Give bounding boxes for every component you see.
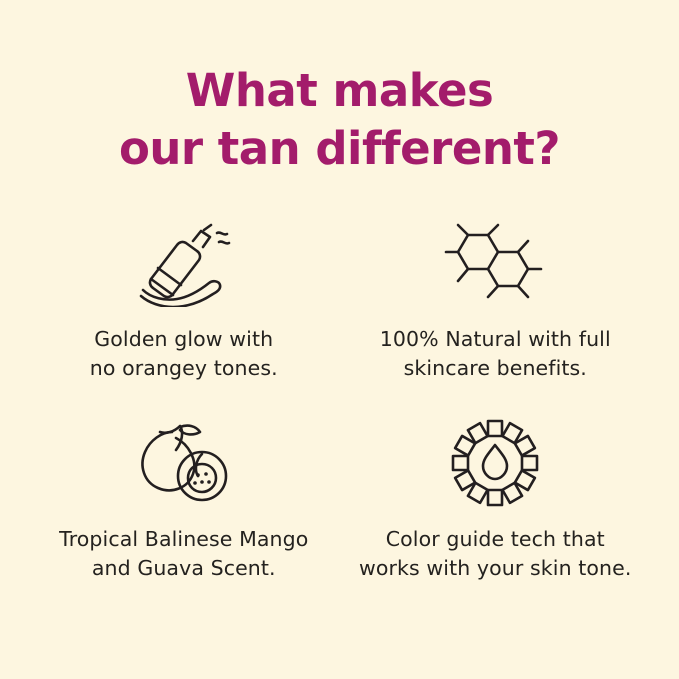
feature-caption: Golden glow with no orangey tones.	[90, 325, 278, 383]
feature-item-natural-skincare: 100% Natural with full skincare benefits…	[340, 215, 652, 415]
feature-caption: Tropical Balinese Mango and Guava Scent.	[59, 525, 308, 583]
feature-caption-line-1: Golden glow with	[90, 325, 278, 354]
feature-caption-line-2: and Guava Scent.	[59, 554, 308, 583]
feature-grid: Golden glow with no orangey tones.	[28, 215, 651, 615]
feature-item-golden-glow: Golden glow with no orangey tones.	[28, 215, 340, 415]
feature-caption: 100% Natural with full skincare benefits…	[380, 325, 611, 383]
page-title: What makes our tan different?	[0, 62, 679, 177]
feature-caption-line-2: skincare benefits.	[380, 354, 611, 383]
feature-caption-line-2: no orangey tones.	[90, 354, 278, 383]
feature-item-mango-guava-scent: Tropical Balinese Mango and Guava Scent.	[28, 415, 340, 615]
product-feature-infographic: What makes our tan different?	[0, 0, 679, 679]
molecule-hexagons-icon	[442, 215, 548, 311]
mango-and-guava-fruit-icon	[132, 415, 236, 511]
feature-caption-line-1: 100% Natural with full	[380, 325, 611, 354]
page-title-line-1: What makes	[0, 62, 679, 120]
color-guide-droplet-wheel-icon	[447, 415, 543, 511]
feature-caption-line-1: Color guide tech that	[359, 525, 631, 554]
feature-caption-line-2: works with your skin tone.	[359, 554, 631, 583]
page-title-line-2: our tan different?	[0, 120, 679, 178]
feature-caption-line-1: Tropical Balinese Mango	[59, 525, 308, 554]
feature-item-color-guide-tech: Color guide tech that works with your sk…	[340, 415, 652, 615]
feature-caption: Color guide tech that works with your sk…	[359, 525, 631, 583]
tanning-mousse-on-hand-icon	[131, 215, 237, 311]
